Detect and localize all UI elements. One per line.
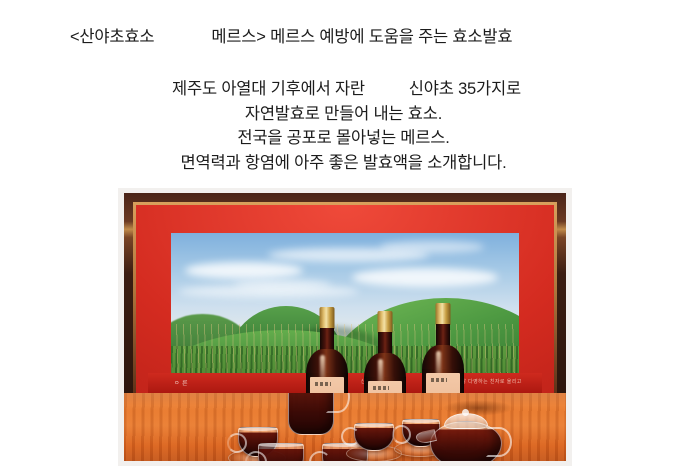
cloud-icon xyxy=(352,268,498,287)
article-photo: ㅇ 른 신품무료 오름의 예랑 다영하는 친자로 울리고 xyxy=(118,188,572,466)
cloud-icon xyxy=(234,279,331,290)
pitcher-handle xyxy=(326,393,350,413)
article-text: 제주도 아열대 기후에서 자란 신야초 35가지로 자연발효로 만들어 내는 효… xyxy=(0,77,687,175)
page-title: <산야초효소 메르스> 메르스 예방에 도움을 주는 효소발효 xyxy=(0,26,687,48)
glassware-set xyxy=(124,393,566,461)
article-line-2: 자연발효로 만들어 내는 효소. xyxy=(0,102,687,127)
cup-handle xyxy=(227,433,247,453)
wooden-table xyxy=(124,393,566,461)
article-body: <산야초효소 메르스> 메르스 예방에 도움을 주는 효소발효 제주도 아열대 … xyxy=(0,0,687,473)
cloud-icon xyxy=(380,241,484,252)
photo-canvas: ㅇ 른 신품무료 오름의 예랑 다영하는 친자로 울리고 xyxy=(124,193,566,461)
bottle-cap xyxy=(436,303,451,325)
enzyme-bottle xyxy=(306,307,348,395)
article-line-3: 전국을 공포로 몰아넣는 메르스. xyxy=(0,126,687,151)
cup-rim xyxy=(238,427,278,431)
cup-handle xyxy=(341,427,360,446)
cloud-icon xyxy=(185,262,303,279)
bottle-cap xyxy=(378,311,393,333)
teapot-handle xyxy=(486,427,512,457)
article-line-4: 면역력과 항염에 아주 좋은 발효액을 소개합니다. xyxy=(0,151,687,176)
glass-pitcher xyxy=(284,393,340,433)
cup-rim xyxy=(258,443,304,447)
bottle-label xyxy=(426,373,460,395)
bottle-cap xyxy=(320,307,335,329)
label-logo-icon xyxy=(431,378,447,382)
enzyme-bottle xyxy=(422,303,464,395)
article-line-1: 제주도 아열대 기후에서 자란 신야초 35가지로 xyxy=(0,77,687,102)
cup-handle xyxy=(392,425,411,444)
teapot-knob xyxy=(462,409,469,416)
enzyme-bottle xyxy=(364,311,406,395)
label-logo-icon xyxy=(315,382,331,386)
label-logo-icon xyxy=(373,386,389,390)
frame-red-mat: ㅇ 른 신품무료 오름의 예랑 다영하는 친자로 울리고 xyxy=(136,205,554,395)
picture-frame: ㅇ 른 신품무료 오름의 예랑 다영하는 친자로 울리고 xyxy=(124,193,566,395)
banner-left-text: ㅇ 른 xyxy=(174,378,188,387)
glass-teapot xyxy=(424,409,510,461)
cup-rim xyxy=(354,423,394,427)
